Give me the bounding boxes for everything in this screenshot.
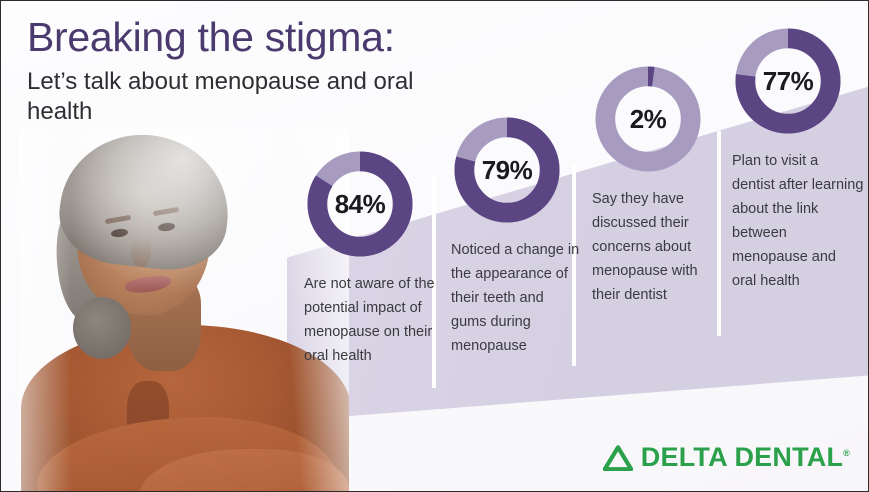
donut-chart-4: 77%: [732, 25, 844, 137]
page-subtitle: Let’s talk about menopause and oral heal…: [27, 67, 447, 127]
donut-value-1: 84%: [304, 148, 416, 260]
woman-portrait: [19, 129, 349, 492]
stat-caption-1: Are not aware of the potential impact of…: [304, 272, 436, 368]
donut-value-2: 79%: [451, 114, 563, 226]
portrait-nose: [131, 237, 151, 267]
stat-column-4: 77% Plan to visit a dentist after learni…: [732, 25, 864, 293]
stat-column-3: 2% Say they have discussed their concern…: [592, 63, 724, 307]
trademark-symbol: ®: [843, 448, 850, 458]
brand-name: DELTA DENTAL: [641, 442, 843, 472]
delta-triangle-icon: [603, 445, 633, 471]
brand-logo-text: DELTA DENTAL®: [641, 442, 850, 473]
headline-block: Breaking the stigma: Let’s talk about me…: [27, 14, 587, 127]
portrait-hair-bun: [73, 297, 131, 359]
stat-caption-4: Plan to visit a dentist after learning a…: [732, 149, 864, 293]
stat-caption-3: Say they have discussed their concerns a…: [592, 187, 724, 307]
brand-logo: DELTA DENTAL®: [603, 442, 850, 473]
donut-chart-1: 84%: [304, 148, 416, 260]
donut-chart-2: 79%: [451, 114, 563, 226]
donut-value-4: 77%: [732, 25, 844, 137]
page-title: Breaking the stigma:: [27, 14, 587, 61]
donut-value-3: 2%: [592, 63, 704, 175]
stat-column-1: 84% Are not aware of the potential impac…: [304, 148, 436, 368]
donut-chart-3: 2%: [592, 63, 704, 175]
stat-caption-2: Noticed a change in the appearance of th…: [451, 238, 583, 358]
stat-column-2: 79% Noticed a change in the appearance o…: [451, 114, 583, 358]
infographic-canvas: Breaking the stigma: Let’s talk about me…: [0, 0, 869, 492]
